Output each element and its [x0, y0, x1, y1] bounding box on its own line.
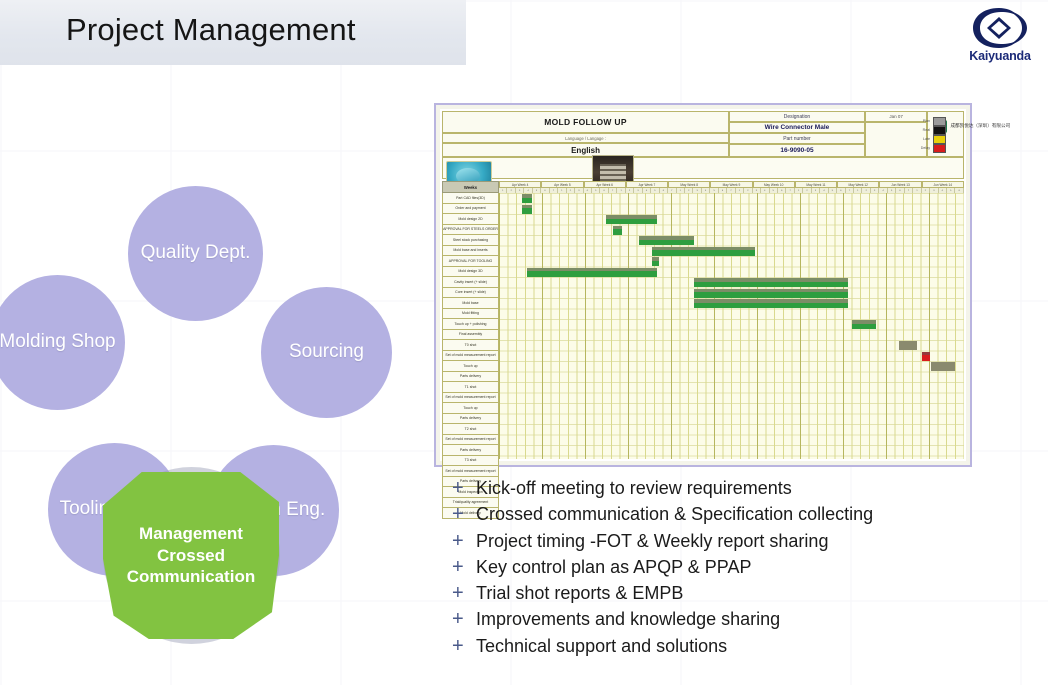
- diagram-core[interactable]: Management Crossed Communication: [103, 472, 279, 639]
- task-row: Touch up: [442, 361, 499, 372]
- petal-label: Molding Shop: [0, 331, 116, 353]
- page-title: Project Management: [66, 12, 356, 48]
- bullet-text: Key control plan as APQP & PPAP: [476, 558, 751, 578]
- bullet-text: Crossed communication & Specification co…: [476, 505, 873, 525]
- thumbnails-band: [442, 157, 964, 179]
- petal-sourcing[interactable]: Sourcing: [261, 287, 392, 418]
- gantt-sheet-header: MOLD FOLLOW UP Language / Langage : Engl…: [442, 111, 964, 179]
- gantt-bar-layer: [499, 193, 964, 459]
- bullet-item: +Technical support and solutions: [452, 636, 1012, 657]
- diagram-core-label: Management Crossed Communication: [103, 523, 279, 588]
- gantt-month-cell: Apr Week 5: [541, 181, 583, 188]
- task-row: Touch up + polishing: [442, 319, 499, 330]
- petal-label: Sourcing: [289, 341, 364, 363]
- task-row: Steel stock purchasing: [442, 235, 499, 246]
- task-row: T0 shot: [442, 340, 499, 351]
- company-name: 成都凯悦达（深圳）有限公司: [950, 123, 1010, 129]
- designation-label: Designation: [729, 111, 865, 122]
- designation-value: Wire Connector Male: [729, 122, 865, 133]
- bullet-text: Project timing -FOT & Weekly report shar…: [476, 532, 828, 552]
- bullet-plus-icon: +: [452, 478, 476, 498]
- bullet-plus-icon: +: [452, 531, 476, 551]
- gantt-bar: [852, 320, 875, 329]
- task-row: T3 shot: [442, 456, 499, 467]
- bullet-item: +Project timing -FOT & Weekly report sha…: [452, 531, 1012, 552]
- legend-swatch-late: [933, 135, 946, 144]
- task-row: Touch up: [442, 403, 499, 414]
- task-row: Part CAD files(3D): [442, 193, 499, 204]
- gantt-month-cell: Apr Week 6: [584, 181, 626, 188]
- sheet-subtitle: Language / Langage :: [442, 133, 729, 143]
- gantt-month-cell: May Week 9: [710, 181, 752, 188]
- task-row: Final assembly: [442, 330, 499, 341]
- task-row: Mold design 3D: [442, 267, 499, 278]
- task-row: Set of mold measurement report: [442, 466, 499, 477]
- gantt-bar: [652, 257, 659, 266]
- legend-label: Delay: [906, 146, 933, 150]
- gantt-month-header: Apr Week 4Apr Week 5Apr Week 6Apr Week 7…: [499, 181, 964, 188]
- bullet-item: +Crossed communication & Specification c…: [452, 504, 1012, 525]
- task-list: Part CAD files(3D)Order and paymentMold …: [442, 193, 499, 519]
- bullet-plus-icon: +: [452, 609, 476, 629]
- bullet-text: Trial shot reports & EMPB: [476, 584, 683, 604]
- bullet-plus-icon: +: [452, 636, 476, 656]
- bullet-item: +Kick-off meeting to review requirements: [452, 478, 1012, 499]
- task-row: Set of mold measurement report: [442, 351, 499, 362]
- petal-molding-shop[interactable]: Molding Shop: [0, 275, 125, 410]
- legend-item: Delay: [906, 144, 946, 152]
- bullet-text: Improvements and knowledge sharing: [476, 610, 780, 630]
- gantt-sheet: MOLD FOLLOW UP Language / Langage : Engl…: [440, 109, 966, 461]
- legend-swatch-plan: [933, 117, 946, 126]
- bullet-item: +Improvements and knowledge sharing: [452, 609, 1012, 630]
- part-number-label: Part number: [729, 133, 865, 144]
- mold-follow-up-gantt[interactable]: MOLD FOLLOW UP Language / Langage : Engl…: [434, 103, 972, 467]
- bullet-text: Technical support and solutions: [476, 637, 727, 657]
- legend-item: Real: [906, 126, 946, 134]
- sheet-title: MOLD FOLLOW UP: [442, 111, 729, 133]
- title-banner: Project Management: [0, 0, 466, 65]
- legend-label: Real: [906, 128, 933, 132]
- gantt-bar: [652, 247, 754, 256]
- gantt-month-cell: Apr Week 4: [499, 181, 541, 188]
- gantt-month-cell: Apr Week 7: [626, 181, 668, 188]
- sheet-language: English: [442, 143, 729, 157]
- gantt-bar: [606, 215, 657, 224]
- task-row: Core insert (+ slide): [442, 288, 499, 299]
- gantt-chart-area[interactable]: Apr Week 4Apr Week 5Apr Week 6Apr Week 7…: [499, 181, 964, 459]
- task-row: Parts delivery: [442, 445, 499, 456]
- task-row: Parts delivery: [442, 414, 499, 425]
- task-row: T1 shot: [442, 382, 499, 393]
- task-row: T2 shot: [442, 424, 499, 435]
- gantt-bar: [639, 236, 695, 245]
- gantt-month-cell: May Week 12: [837, 181, 879, 188]
- petal-label: Quality Dept.: [141, 242, 251, 264]
- legend-item: Late: [906, 135, 946, 143]
- gantt-month-cell: Jun Week 13: [879, 181, 921, 188]
- gantt-bar: [694, 278, 847, 287]
- bullet-plus-icon: +: [452, 504, 476, 524]
- gantt-month-cell: May Week 8: [668, 181, 710, 188]
- gantt-bar: [922, 352, 929, 361]
- legend-swatch-delay: [933, 144, 946, 153]
- gantt-month-cell: May Week 11: [795, 181, 837, 188]
- company-logo: Kaiyuanda: [959, 6, 1041, 68]
- task-column-header: Weeks: [442, 181, 499, 193]
- gantt-month-cell: May Week 10: [753, 181, 795, 188]
- gantt-legend: Plan Real Late Delay: [906, 117, 946, 153]
- crossed-communication-diagram: Quality Dept. Sourcing Design Eng. Tooli…: [0, 175, 420, 575]
- gantt-bar: [522, 205, 531, 214]
- gantt-bar: [694, 299, 847, 308]
- task-row: Parts delivery: [442, 372, 499, 383]
- gantt-bar: [527, 268, 657, 277]
- task-row: Order and payment: [442, 204, 499, 215]
- legend-label: Plan: [906, 119, 933, 123]
- task-row: Cavity insert (+ slide): [442, 277, 499, 288]
- gantt-body: Weeks Part CAD files(3D)Order and paymen…: [442, 181, 964, 459]
- bullet-plus-icon: +: [452, 557, 476, 577]
- bullet-item: +Key control plan as APQP & PPAP: [452, 557, 1012, 578]
- gantt-bar: [694, 289, 847, 298]
- gantt-task-column: Weeks Part CAD files(3D)Order and paymen…: [442, 181, 499, 459]
- legend-item: Plan: [906, 117, 946, 125]
- gantt-bar: [931, 362, 954, 371]
- feature-bullet-list: +Kick-off meeting to review requirements…: [452, 478, 1012, 662]
- task-row: Mold base: [442, 298, 499, 309]
- task-row: APPROVAL FOR STEELS ORDER: [442, 225, 499, 236]
- task-row: Mold design 2D: [442, 214, 499, 225]
- bullet-text: Kick-off meeting to review requirements: [476, 479, 792, 499]
- task-row: APPROVAL FOR TOOLING: [442, 256, 499, 267]
- petal-quality-dept[interactable]: Quality Dept.: [128, 186, 263, 321]
- bullet-plus-icon: +: [452, 583, 476, 603]
- logo-text: Kaiyuanda: [959, 49, 1041, 63]
- task-row: Set of mold measurement report: [442, 393, 499, 404]
- gantt-month-cell: Jun Week 14: [922, 181, 964, 188]
- kaiyuanda-logo-icon: [967, 6, 1031, 50]
- task-row: Mold base and inserts: [442, 246, 499, 257]
- bullet-item: +Trial shot reports & EMPB: [452, 583, 1012, 604]
- gantt-bar: [522, 194, 531, 203]
- gantt-bar: [613, 226, 622, 235]
- legend-swatch-real: [933, 126, 946, 135]
- gantt-bar: [899, 341, 918, 350]
- part-number-value: 16-9090-05: [729, 144, 865, 157]
- task-row: Set of mold measurement report: [442, 435, 499, 446]
- legend-label: Late: [906, 137, 933, 141]
- task-row: Mold fitting: [442, 309, 499, 320]
